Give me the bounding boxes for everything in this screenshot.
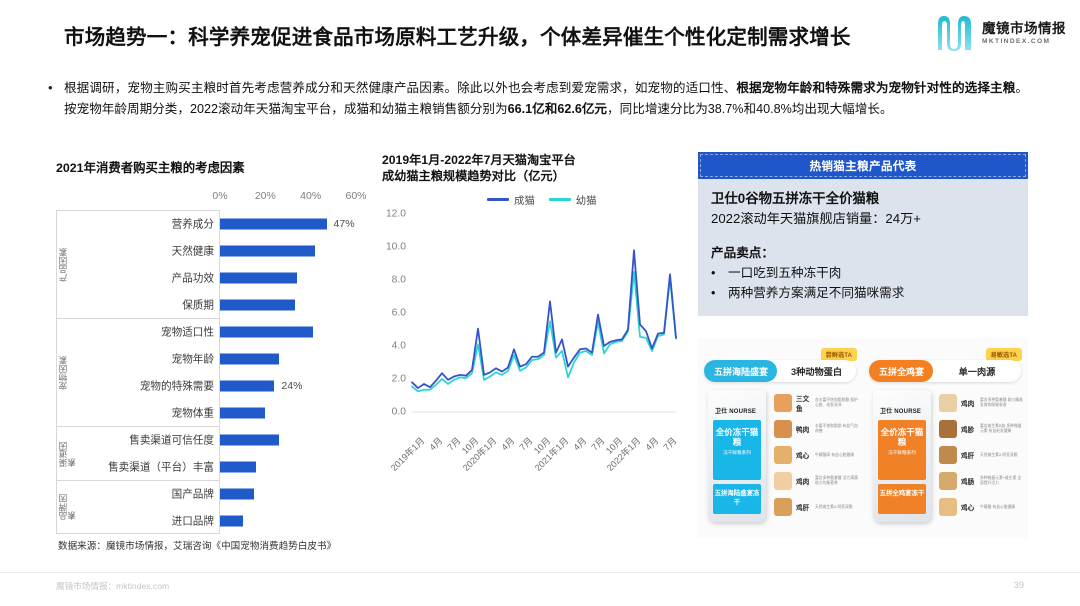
bar-value-label: 47% xyxy=(334,218,355,230)
ingredient-swatch xyxy=(774,446,792,464)
product-package: 卫仕 NOURSE全价冻干猫粮冻干鲜粮系列五拼全鸡宴冻干 xyxy=(873,390,931,522)
line-chart-title-line1: 2019年1月-2022年7月天猫淘宝平台 xyxy=(382,152,682,168)
bar-chart-title: 2021年消费者购买主粮的考虑因素 xyxy=(56,158,376,176)
line-chart-legend: 成猫幼猫 xyxy=(487,192,597,207)
x-axis-tick: 7月 xyxy=(660,434,679,453)
footer-brand: 魔镜市场情报：mktindex.com xyxy=(56,580,169,592)
bar-category-label: 售卖渠道可信任度 xyxy=(129,432,214,447)
footer-divider xyxy=(0,572,1080,573)
product-name: 卫仕0谷物五拼冻干全价猫粮 xyxy=(711,189,1015,209)
bar-row: 产品功效 xyxy=(56,264,376,291)
x-axis-tick: 4月 xyxy=(570,434,589,453)
bar-category-label: 宠物体重 xyxy=(172,405,214,420)
y-axis-tick: 10.0 xyxy=(386,242,406,253)
bar-fill xyxy=(220,461,256,472)
bar-axis-tick: 0% xyxy=(212,190,227,202)
ingredient-swatch xyxy=(774,394,792,412)
bar-row: 保质期 xyxy=(56,291,376,318)
ingredient-name: 鸡心 xyxy=(796,450,811,460)
variant-pill: 五拼全鸡宴单一肉源 xyxy=(869,360,1021,382)
package-title: 全价冻干猫粮 xyxy=(713,427,761,447)
ingredient-desc: 富含维生素B族 多种微量元素 有益毛发健康 xyxy=(980,424,1025,434)
bar-fill xyxy=(220,353,279,364)
package-brand: 卫仕 NOURSE xyxy=(880,406,921,415)
legend-swatch xyxy=(487,198,509,201)
legend-label: 成猫 xyxy=(514,192,535,207)
ingredient-name: 鸡肉 xyxy=(961,398,976,408)
bar-fill xyxy=(220,326,313,337)
bar-fill xyxy=(220,488,254,499)
product-variant-right: 易敏选TA五拼全鸡宴单一肉源卫仕 NOURSE全价冻干猫粮冻干鲜粮系列五拼全鸡宴… xyxy=(863,338,1028,538)
ingredient-desc: 天然维生素A 明亮双眼 xyxy=(980,453,1025,458)
selling-point-text: 一口吃到五种冻干肉 xyxy=(728,263,841,283)
bar-category-label: 保质期 xyxy=(182,297,214,312)
line-chart-plot: 0.02.04.06.08.010.012.0 xyxy=(382,210,682,430)
selling-point-marker: • xyxy=(711,283,719,303)
ingredient-name: 鸡胗 xyxy=(961,424,976,434)
product-variant-left: 尝鲜选TA五拼海陆盛宴3种动物蛋白卫仕 NOURSE全价冻干猫粮冻干鲜粮系列五拼… xyxy=(698,338,863,538)
bullet-marker: • xyxy=(48,78,64,119)
variant-pill-right: 3种动物蛋白 xyxy=(777,364,856,378)
brand-logo: 魔镜市场情报 MKTINDEX.COM xyxy=(935,14,1066,52)
package-strip-text: 五拼全鸡宴冻干 xyxy=(878,488,926,497)
bar-fill xyxy=(220,272,297,283)
ingredient-desc: 含丰富不饱和脂肪酸 保护心脏、毛发亮泽 xyxy=(815,398,860,408)
ingredient-swatch xyxy=(939,472,957,490)
ingredient-name: 鸡心 xyxy=(961,502,976,512)
ingredient-swatch xyxy=(939,420,957,438)
line-series-成猫 xyxy=(412,250,676,388)
slide: 市场趋势一：科学养宠促进食品市场原料工艺升级，个体差异催生个性化定制需求增长 魔… xyxy=(0,0,1080,606)
ingredient-swatch xyxy=(939,498,957,516)
bar-category-label: 产品功效 xyxy=(172,270,214,285)
ingredient-row: 鸡肉富含多种氨基酸 助力精准发育和肠胃吸收 xyxy=(939,390,1025,416)
ingredient-row: 三文鱼含丰富不饱和脂肪酸 保护心脏、毛发亮泽 xyxy=(774,390,860,416)
line-chart-panel: 2019年1月-2022年7月天猫淘宝平台 成幼猫主粮规模趋势对比（亿元） 成猫… xyxy=(382,152,682,552)
legend-item: 幼猫 xyxy=(549,192,597,207)
ingredient-desc: 牛磺酸高 有益心脏健康 xyxy=(815,453,860,458)
selling-point-text: 两种营养方案满足不同猫咪需求 xyxy=(728,283,904,303)
package-strip: 五拼全鸡宴冻干 xyxy=(878,484,926,514)
bar-fill xyxy=(220,299,295,310)
x-axis-tick: 4月 xyxy=(642,434,661,453)
selling-point-marker: • xyxy=(711,263,719,283)
package-subtitle: 冻干鲜粮系列 xyxy=(878,450,926,456)
ingredient-row: 鸡肝天然维生素A 明亮双眼 xyxy=(774,494,860,520)
bar-fill xyxy=(220,380,274,391)
selling-point-item: • 一口吃到五种冻干肉 xyxy=(711,263,1015,283)
bar-row: 进口品牌 xyxy=(56,507,376,534)
featured-product-panel: 热销猫主粮产品代表 卫仕0谷物五拼冻干全价猫粮 2022滚动年天猫旗舰店销量：2… xyxy=(698,152,1028,316)
package-brand: 卫仕 NOURSE xyxy=(715,406,756,415)
product-sales: 2022滚动年天猫旗舰店销量：24万+ xyxy=(711,209,1015,229)
summary-bold-2: 66.1亿和62.6亿元 xyxy=(508,102,607,116)
selling-point-item: • 两种营养方案满足不同猫咪需求 xyxy=(711,283,1015,303)
bar-fill xyxy=(220,434,279,445)
ingredient-swatch xyxy=(939,394,957,412)
featured-product-body: 卫仕0谷物五拼冻干全价猫粮 2022滚动年天猫旗舰店销量：24万+ 产品卖点： … xyxy=(698,179,1028,316)
ingredient-desc: 富含多种氨基酸 活力满满助力均衡营养 xyxy=(815,476,860,486)
bar-category-label: 营养成分 xyxy=(172,216,214,231)
ingredient-name: 鸡肝 xyxy=(796,502,811,512)
bar-row: 宠物适口性 xyxy=(56,318,376,345)
legend-item: 成猫 xyxy=(487,192,535,207)
line-chart-x-axis: 2019年1月4月7月10月2020年1月4月7月10月2021年1月4月7月1… xyxy=(382,434,682,494)
package-strip-text: 五拼海陆盛宴冻干 xyxy=(713,488,761,506)
y-axis-tick: 0.0 xyxy=(392,407,406,418)
bar-chart-panel: 2021年消费者购买主粮的考虑因素 0%20%40%60% 产品因素营养成分47… xyxy=(56,158,376,543)
bar-category-label: 国产品牌 xyxy=(172,486,214,501)
package-window: 全价冻干猫粮冻干鲜粮系列 xyxy=(878,420,926,480)
package-title: 全价冻干猫粮 xyxy=(878,427,926,447)
bar-row: 售卖渠道可信任度 xyxy=(56,426,376,453)
bar-category-label: 进口品牌 xyxy=(172,513,214,528)
line-chart-title: 2019年1月-2022年7月天猫淘宝平台 成幼猫主粮规模趋势对比（亿元） xyxy=(382,152,682,184)
bar-category-label: 宠物的特殊需要 xyxy=(140,378,214,393)
featured-product-header: 热销猫主粮产品代表 xyxy=(698,152,1028,179)
ingredient-row: 鸡肠多种微量元素+维生素 全面提升活力 xyxy=(939,468,1025,494)
ingredient-desc: 丰富不饱和脂肪 有益气血改善 xyxy=(815,424,860,434)
variant-pill-left: 五拼海陆盛宴 xyxy=(704,360,777,382)
bar-value-label: 24% xyxy=(281,380,302,392)
summary-text: 根据调研，宠物主购买主粮时首先考虑营养成分和天然健康产品因素。除此以外也会考虑到… xyxy=(64,78,1028,119)
summary-bold-1: 根据宠物年龄和特殊需求为宠物针对性的选择主粮 xyxy=(736,81,1015,95)
variant-pill-right: 单一肉源 xyxy=(933,364,1021,378)
bar-fill xyxy=(220,245,315,256)
ingredient-swatch xyxy=(939,446,957,464)
y-axis-tick: 12.0 xyxy=(386,209,406,220)
variant-pill-left: 五拼全鸡宴 xyxy=(869,360,933,382)
slide-header: 市场趋势一：科学养宠促进食品市场原料工艺升级，个体差异催生个性化定制需求增长 魔… xyxy=(0,0,1080,68)
package-window: 全价冻干猫粮冻干鲜粮系列 xyxy=(713,420,761,480)
ingredient-row: 鸡肝天然维生素A 明亮双眼 xyxy=(939,442,1025,468)
ingredient-list: 三文鱼含丰富不饱和脂肪酸 保护心脏、毛发亮泽鸭肉丰富不饱和脂肪 有益气血改善鸡心… xyxy=(774,390,860,520)
bar-row: 宠物的特殊需要24% xyxy=(56,372,376,399)
ingredient-swatch xyxy=(774,472,792,490)
legend-label: 幼猫 xyxy=(576,192,597,207)
page-title: 市场趋势一：科学养宠促进食品市场原料工艺升级，个体差异催生个性化定制需求增长 xyxy=(64,20,851,50)
line-chart-svg xyxy=(382,210,682,430)
legend-swatch xyxy=(549,198,571,201)
ingredient-row: 鸡心牛磺酸 有益心脏健康 xyxy=(939,494,1025,520)
bar-category-label: 天然健康 xyxy=(172,243,214,258)
logo-subtitle: MKTINDEX.COM xyxy=(982,38,1066,45)
page-number: 39 xyxy=(1014,580,1024,590)
selling-points-title: 产品卖点： xyxy=(711,244,1015,263)
x-axis-tick: 7月 xyxy=(444,434,463,453)
ingredient-name: 鸡肉 xyxy=(796,476,811,486)
bar-category-label: 售卖渠道（平台）丰富 xyxy=(108,459,214,474)
ingredient-desc: 富含多种氨基酸 助力精准发育和肠胃吸收 xyxy=(980,398,1025,408)
bar-axis-tick: 40% xyxy=(300,190,321,202)
x-axis-tick: 4月 xyxy=(498,434,517,453)
ingredient-desc: 天然维生素A 明亮双眼 xyxy=(815,505,860,510)
product-photo: 尝鲜选TA五拼海陆盛宴3种动物蛋白卫仕 NOURSE全价冻干猫粮冻干鲜粮系列五拼… xyxy=(698,338,1028,538)
bar-chart-x-axis: 0%20%40%60% xyxy=(56,190,376,206)
y-axis-tick: 2.0 xyxy=(392,374,406,385)
bar-row: 宠物年龄 xyxy=(56,345,376,372)
ingredient-row: 鸭肉丰富不饱和脂肪 有益气血改善 xyxy=(774,416,860,442)
bar-row: 宠物体重 xyxy=(56,399,376,426)
summary-part-1: 根据调研，宠物主购买主粮时首先考虑营养成分和天然健康产品因素。除此以外也会考虑到… xyxy=(64,81,736,95)
ingredient-name: 鸡肠 xyxy=(961,476,976,486)
product-package: 卫仕 NOURSE全价冻干猫粮冻干鲜粮系列五拼海陆盛宴冻干 xyxy=(708,390,766,522)
package-subtitle: 冻干鲜粮系列 xyxy=(713,450,761,456)
summary-bullet: • 根据调研，宠物主购买主粮时首先考虑营养成分和天然健康产品因素。除此以外也会考… xyxy=(48,78,1028,119)
ingredient-name: 鸭肉 xyxy=(796,424,811,434)
y-axis-tick: 6.0 xyxy=(392,308,406,319)
ingredient-swatch xyxy=(774,498,792,516)
ingredient-name: 三文鱼 xyxy=(796,393,811,413)
bar-fill xyxy=(220,515,243,526)
ingredient-row: 鸡胗富含维生素B族 多种微量元素 有益毛发健康 xyxy=(939,416,1025,442)
bar-row: 售卖渠道（平台）丰富 xyxy=(56,453,376,480)
ingredient-row: 鸡肉富含多种氨基酸 活力满满助力均衡营养 xyxy=(774,468,860,494)
bar-chart-plot: 产品因素营养成分47%天然健康产品功效保质期宠物因素宠物适口性宠物年龄宠物的特殊… xyxy=(56,210,376,520)
y-axis-tick: 4.0 xyxy=(392,341,406,352)
package-strip: 五拼海陆盛宴冻干 xyxy=(713,484,761,514)
bar-row: 天然健康 xyxy=(56,237,376,264)
bar-fill xyxy=(220,407,265,418)
source-note: 数据来源：魔镜市场情报，艾瑞咨询《中国宠物消费趋势白皮书》 xyxy=(58,538,336,552)
logo-title: 魔镜市场情报 xyxy=(982,21,1066,37)
bar-fill xyxy=(220,218,327,229)
bar-row: 国产品牌 xyxy=(56,480,376,507)
x-axis-tick: 7月 xyxy=(516,434,535,453)
line-chart-title-line2: 成幼猫主粮规模趋势对比（亿元） xyxy=(382,168,682,184)
y-axis-tick: 8.0 xyxy=(392,275,406,286)
ingredient-swatch xyxy=(774,420,792,438)
bar-category-label: 宠物适口性 xyxy=(161,324,214,339)
ingredient-desc: 牛磺酸 有益心脏健康 xyxy=(980,505,1025,510)
ingredient-list: 鸡肉富含多种氨基酸 助力精准发育和肠胃吸收鸡胗富含维生素B族 多种微量元素 有益… xyxy=(939,390,1025,520)
x-axis-tick: 4月 xyxy=(426,434,445,453)
bar-axis-tick: 60% xyxy=(345,190,366,202)
ingredient-row: 鸡心牛磺酸高 有益心脏健康 xyxy=(774,442,860,468)
ingredient-name: 鸡肝 xyxy=(961,450,976,460)
x-axis-tick: 7月 xyxy=(588,434,607,453)
ingredient-desc: 多种微量元素+维生素 全面提升活力 xyxy=(980,476,1025,486)
bar-row: 营养成分47% xyxy=(56,210,376,237)
variant-pill: 五拼海陆盛宴3种动物蛋白 xyxy=(704,360,856,382)
x-axis-tick: 2019年1月 xyxy=(388,434,428,474)
summary-part-3: ，同比增速分比为38.7%和40.8%均出现大幅增长。 xyxy=(607,102,893,116)
logo-m-icon xyxy=(935,14,975,52)
bar-axis-tick: 20% xyxy=(255,190,276,202)
bar-category-label: 宠物年龄 xyxy=(172,351,214,366)
